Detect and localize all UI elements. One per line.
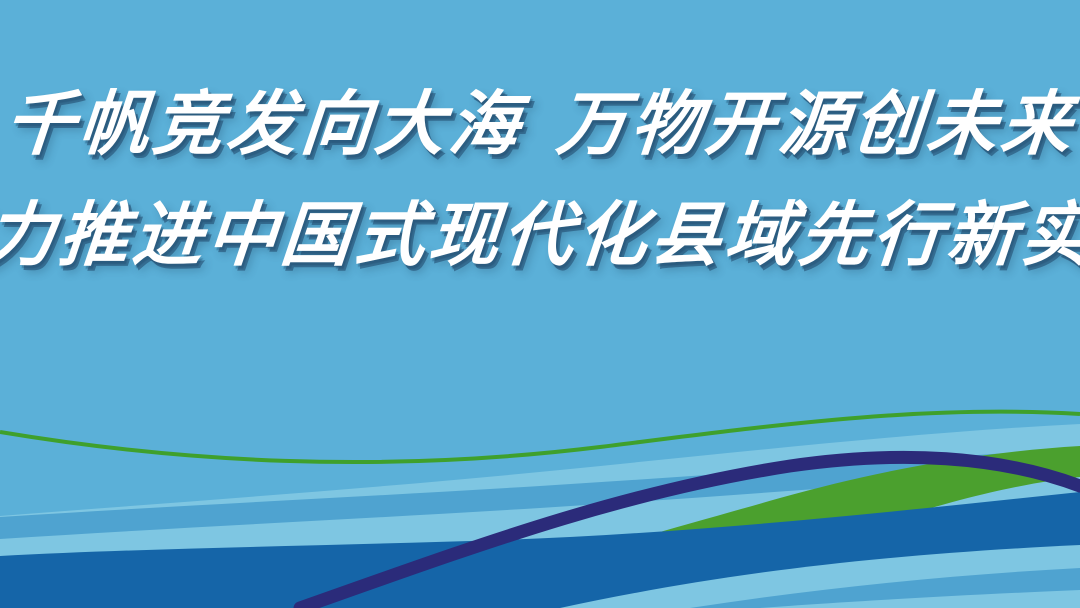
promotional-banner: 千帆竞发向大海万物开源创未来 奋力推进中国式现代化县域先行新实践 <box>0 0 1080 608</box>
headline-line-1-part-1: 千帆竞发向大海 <box>1 82 526 165</box>
headline-line-1-part-2: 万物开源创未来 <box>553 82 1078 165</box>
headline-line-1: 千帆竞发向大海万物开源创未来 <box>2 88 1078 161</box>
headline-line-2: 奋力推进中国式现代化县域先行新实践 <box>0 199 1080 272</box>
headline-block: 千帆竞发向大海万物开源创未来 奋力推进中国式现代化县域先行新实践 <box>0 0 1080 400</box>
